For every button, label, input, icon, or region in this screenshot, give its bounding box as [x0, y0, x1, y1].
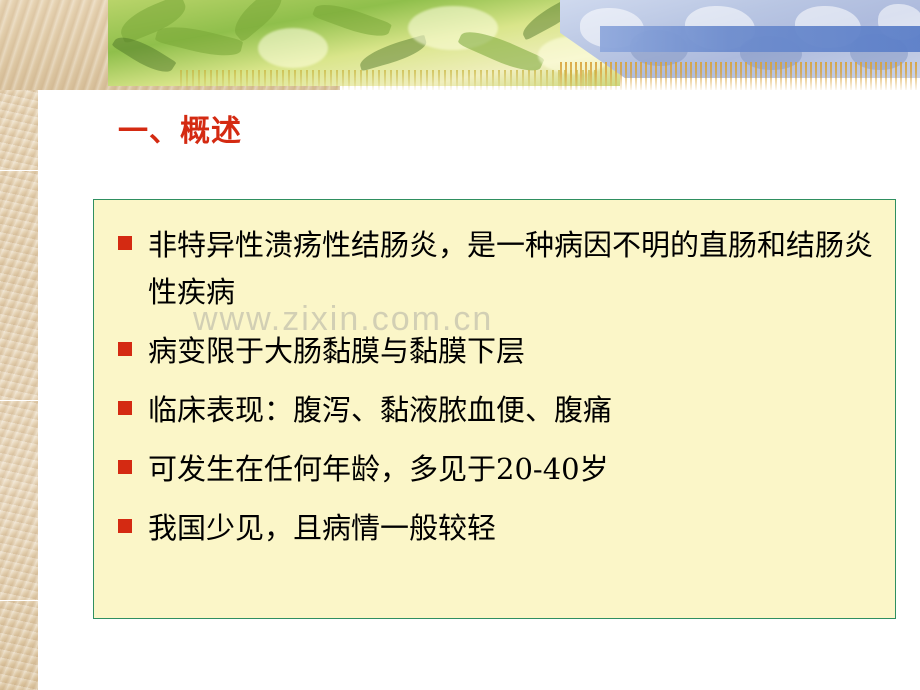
list-item-text: 临床表现：腹泻、黏液脓血便、腹痛	[148, 387, 878, 434]
square-bullet-icon	[118, 342, 132, 356]
list-item: 非特异性溃疡性结肠炎，是一种病因不明的直肠和结肠炎性疾病	[118, 222, 878, 316]
list-item-text: 非特异性溃疡性结肠炎，是一种病因不明的直肠和结肠炎性疾病	[148, 222, 878, 316]
square-bullet-icon	[118, 460, 132, 474]
square-bullet-icon	[118, 236, 132, 250]
square-bullet-icon	[118, 401, 132, 415]
list-item: 我国少见，且病情一般较轻	[118, 505, 878, 552]
list-item: 临床表现：腹泻、黏液脓血便、腹痛	[118, 387, 878, 434]
content-box: 非特异性溃疡性结肠炎，是一种病因不明的直肠和结肠炎性疾病 病变限于大肠黏膜与黏膜…	[93, 199, 896, 619]
bullet-list: 非特异性溃疡性结肠炎，是一种病因不明的直肠和结肠炎性疾病 病变限于大肠黏膜与黏膜…	[118, 222, 878, 564]
list-item: 病变限于大肠黏膜与黏膜下层	[118, 328, 878, 375]
banner-gold-fringe-secondary	[180, 70, 600, 90]
list-item-text: 可发生在任何年龄，多见于20-40岁	[148, 446, 878, 493]
top-decorative-banner	[0, 0, 920, 90]
list-item: 可发生在任何年龄，多见于20-40岁	[118, 446, 878, 493]
banner-gold-fringe	[560, 62, 920, 90]
list-item-text: 病变限于大肠黏膜与黏膜下层	[148, 328, 878, 375]
square-bullet-icon	[118, 519, 132, 533]
left-decorative-band	[0, 0, 38, 690]
list-item-text: 我国少见，且病情一般较轻	[148, 505, 878, 552]
page-title: 一、概述	[118, 106, 242, 150]
slide: 一、概述 非特异性溃疡性结肠炎，是一种病因不明的直肠和结肠炎性疾病 病变限于大肠…	[0, 0, 920, 690]
banner-blue-strip	[600, 26, 920, 52]
